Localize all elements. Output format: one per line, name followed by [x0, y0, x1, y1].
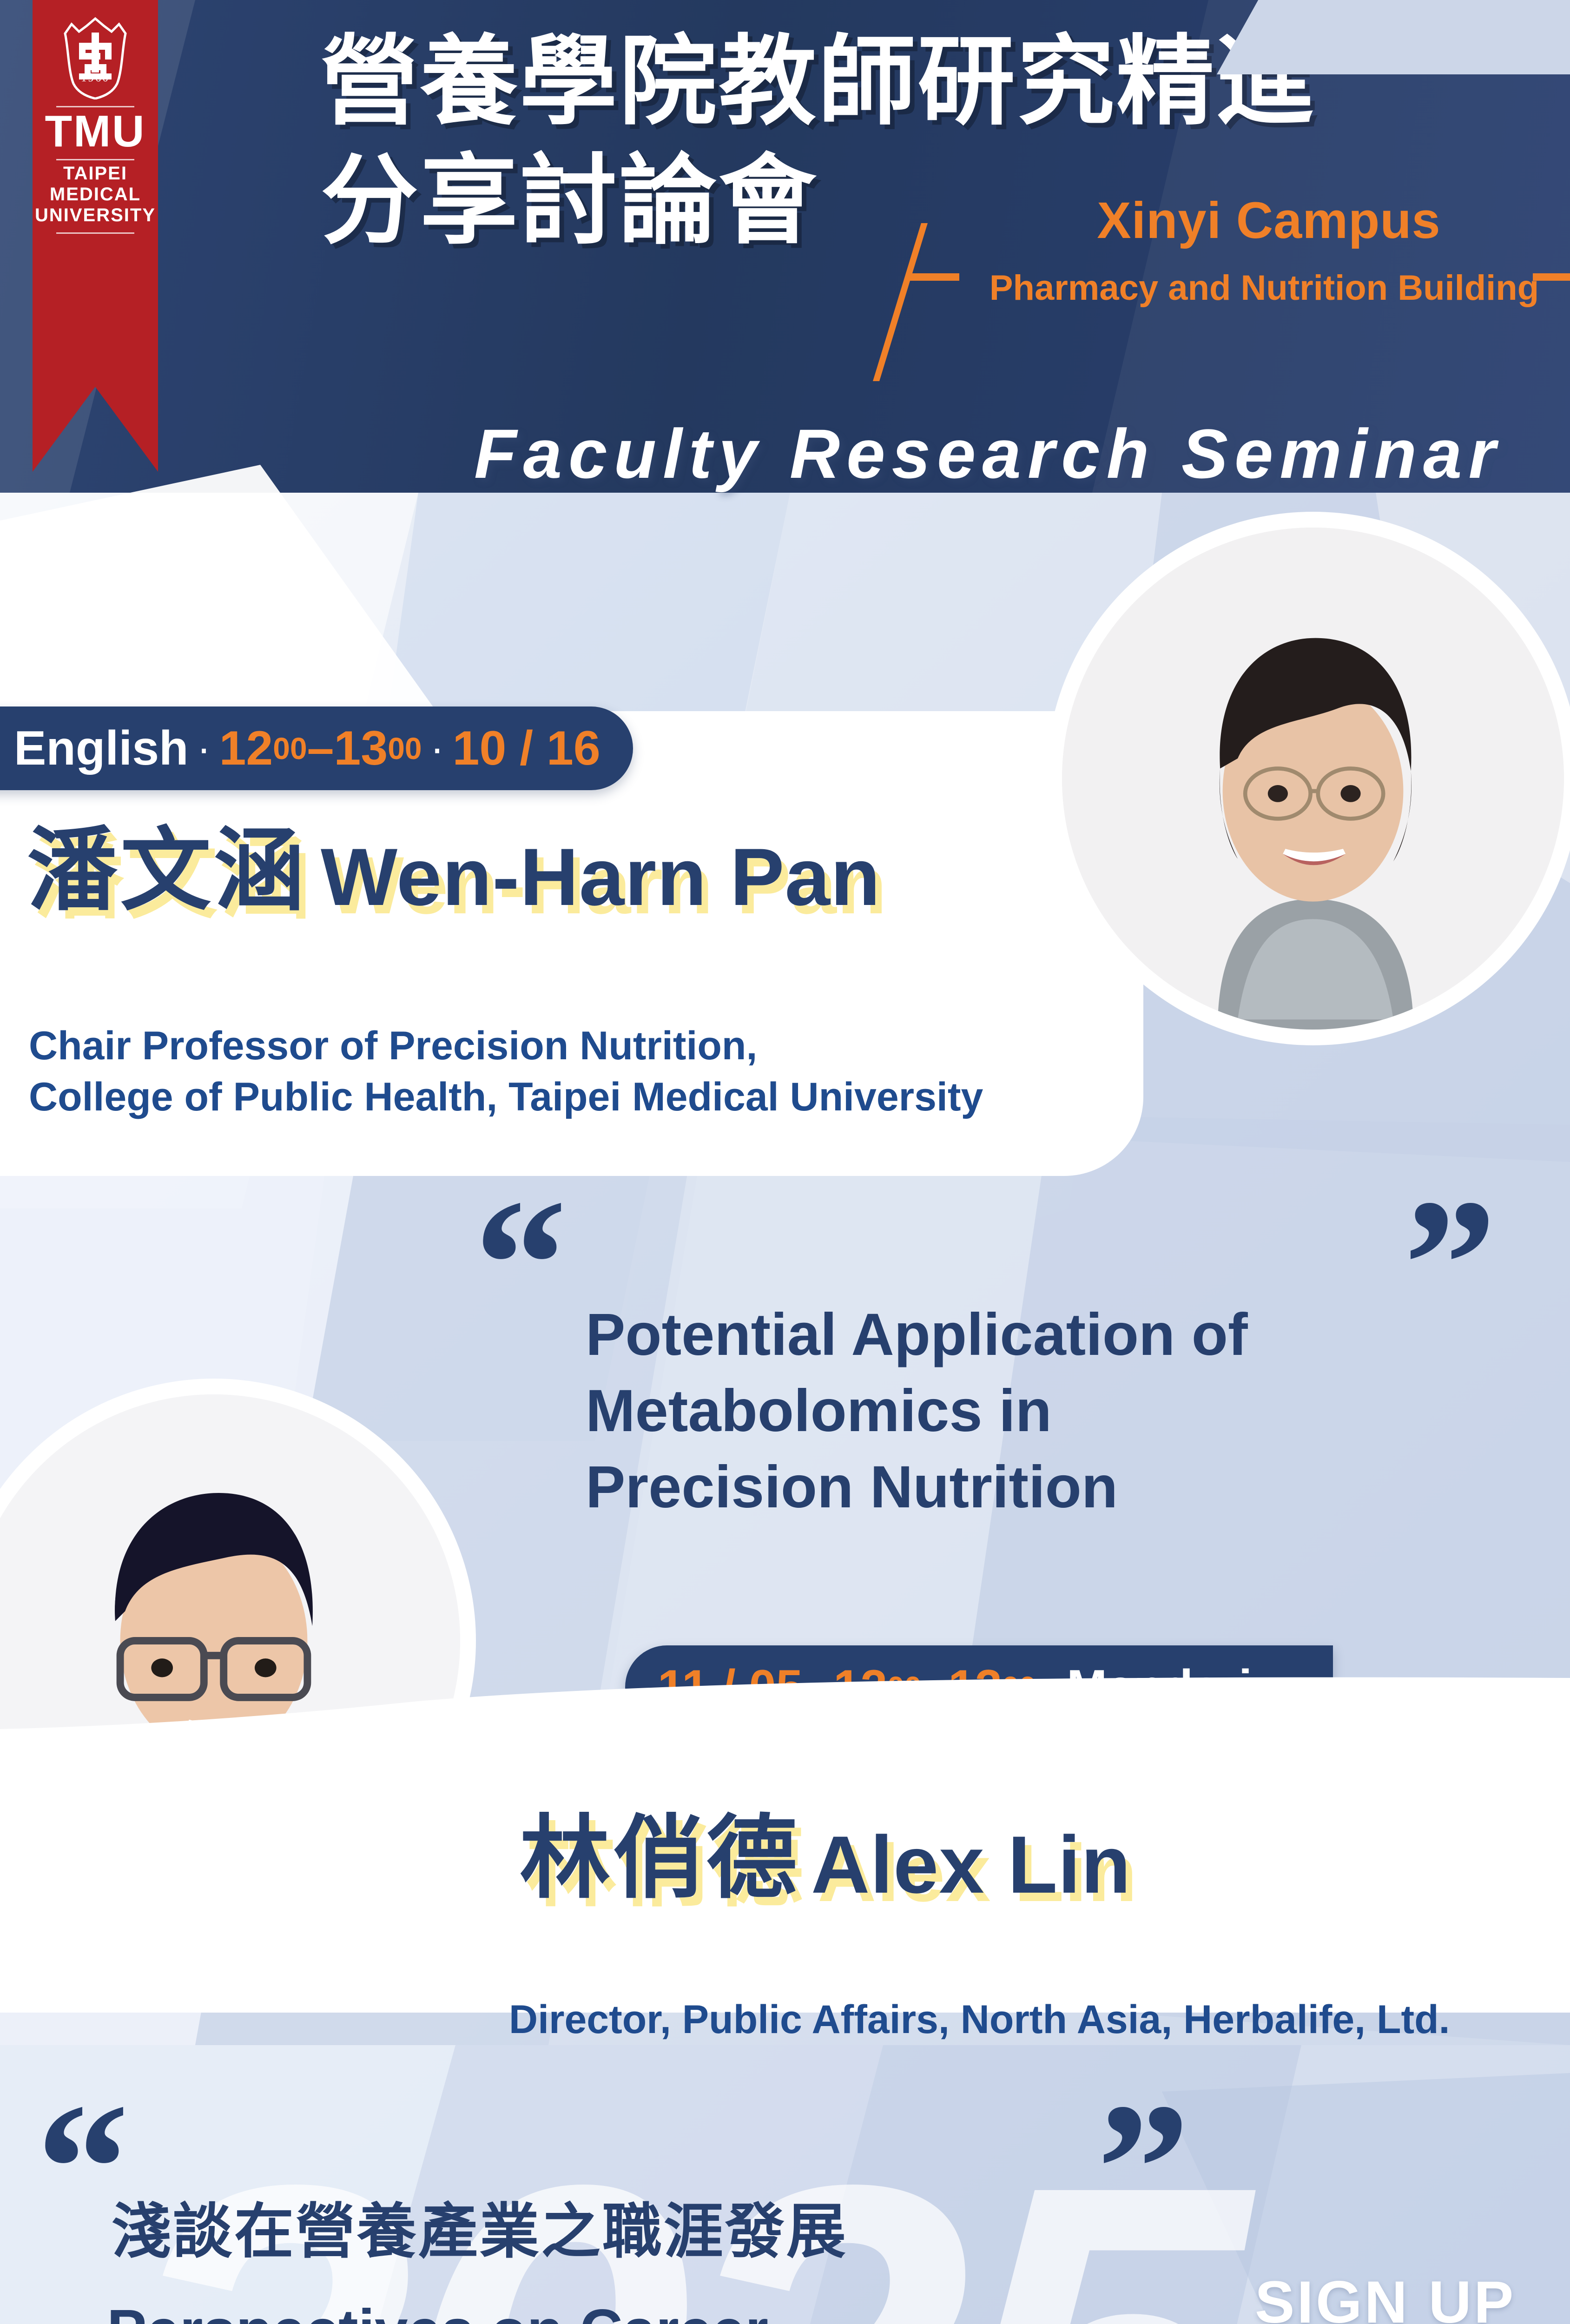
speaker-1-name: 潘文涵 潘文涵: [27, 825, 307, 916]
page-title-line1: 營養學院教師研究精進: [321, 25, 1315, 139]
speaker-1-name-en: Wen-Harn Pan: [321, 832, 881, 923]
campus-block: Xinyi Campus Pharmacy and Nutrition Buil…: [939, 195, 1570, 306]
speaker-1-time-dash: –: [307, 724, 334, 772]
speaker-1-start-min: 00: [273, 733, 307, 764]
speaker-1-affiliation: Chair Professor of Precision Nutrition, …: [29, 1020, 1098, 1122]
campus-rule-left: [908, 273, 959, 281]
speaker-1-end-hour: 13: [334, 724, 388, 772]
tmu-divider-mid: [56, 159, 134, 160]
speaker-2-panel-curve: [0, 1673, 1570, 1766]
speaker-2-name-en: Alex Lin: [811, 1820, 1131, 1910]
speaker-1-date: 10 / 16: [453, 724, 600, 772]
speaker-2-name-en-row: Alex Lin Alex Lin: [811, 1824, 1131, 1906]
speaker-1-end-min: 00: [388, 733, 422, 764]
campus-name: Xinyi Campus: [939, 195, 1570, 246]
campus-rule-right: [1533, 273, 1570, 281]
tmu-shield-icon: 1960: [60, 16, 130, 99]
tmu-name-line1: TAIPEI: [63, 163, 127, 184]
talk-2-title-en: Perspectives on Career Development in Nu…: [107, 2291, 1065, 2324]
tmu-abbrev: TMU: [45, 110, 146, 152]
seminar-subtitle: Faculty Research Seminar: [474, 414, 1502, 494]
speaker-1-start-hour: 12: [219, 724, 273, 772]
talk-1-open-quote: “: [474, 1190, 567, 1339]
speaker-1-avatar: [1062, 528, 1564, 1030]
tmu-name-line3: UNIVERSITY: [35, 205, 156, 226]
talk-1-close-quote: ”: [1404, 1190, 1497, 1339]
talk-2-close-quote: ”: [1097, 2094, 1190, 2243]
footer-diagonal-accent: [1217, 0, 1570, 74]
signup-label: SIGN UP: [1255, 2268, 1516, 2324]
talk-2-title-cn: 淺談在營養產業之職涯發展: [112, 2194, 848, 2270]
speaker-1-language: English: [14, 724, 189, 772]
tmu-divider-bottom: [56, 232, 134, 234]
seminar-poster: 2025 1960 TMU TAIP: [0, 0, 1570, 2324]
speaker-1-sep-1: ·: [189, 725, 219, 772]
talk-1-title: Potential Application of Metabolomics in…: [586, 1297, 1248, 1525]
shield-year-label: 1960: [60, 72, 130, 85]
speaker-1-name-en-row: Wen-Harn Pan Wen-Harn Pan: [321, 837, 881, 918]
speaker-1-sep-2: ·: [422, 725, 453, 772]
venue-name: Pharmacy and Nutrition Building: [939, 271, 1570, 306]
speaker-1-schedule-badge: English · 12 00 – 13 00 · 10 / 16: [0, 706, 633, 790]
speaker-2-name: 林俏德 林俏德: [520, 1813, 800, 1903]
speaker-2-name-cn: 林俏德: [520, 1805, 800, 1911]
tmu-name-line2: MEDICAL: [50, 184, 141, 205]
speaker-2-affiliation: Director, Public Affairs, North Asia, He…: [509, 1994, 1570, 2045]
speaker-1-name-cn: 潘文涵: [27, 818, 307, 923]
